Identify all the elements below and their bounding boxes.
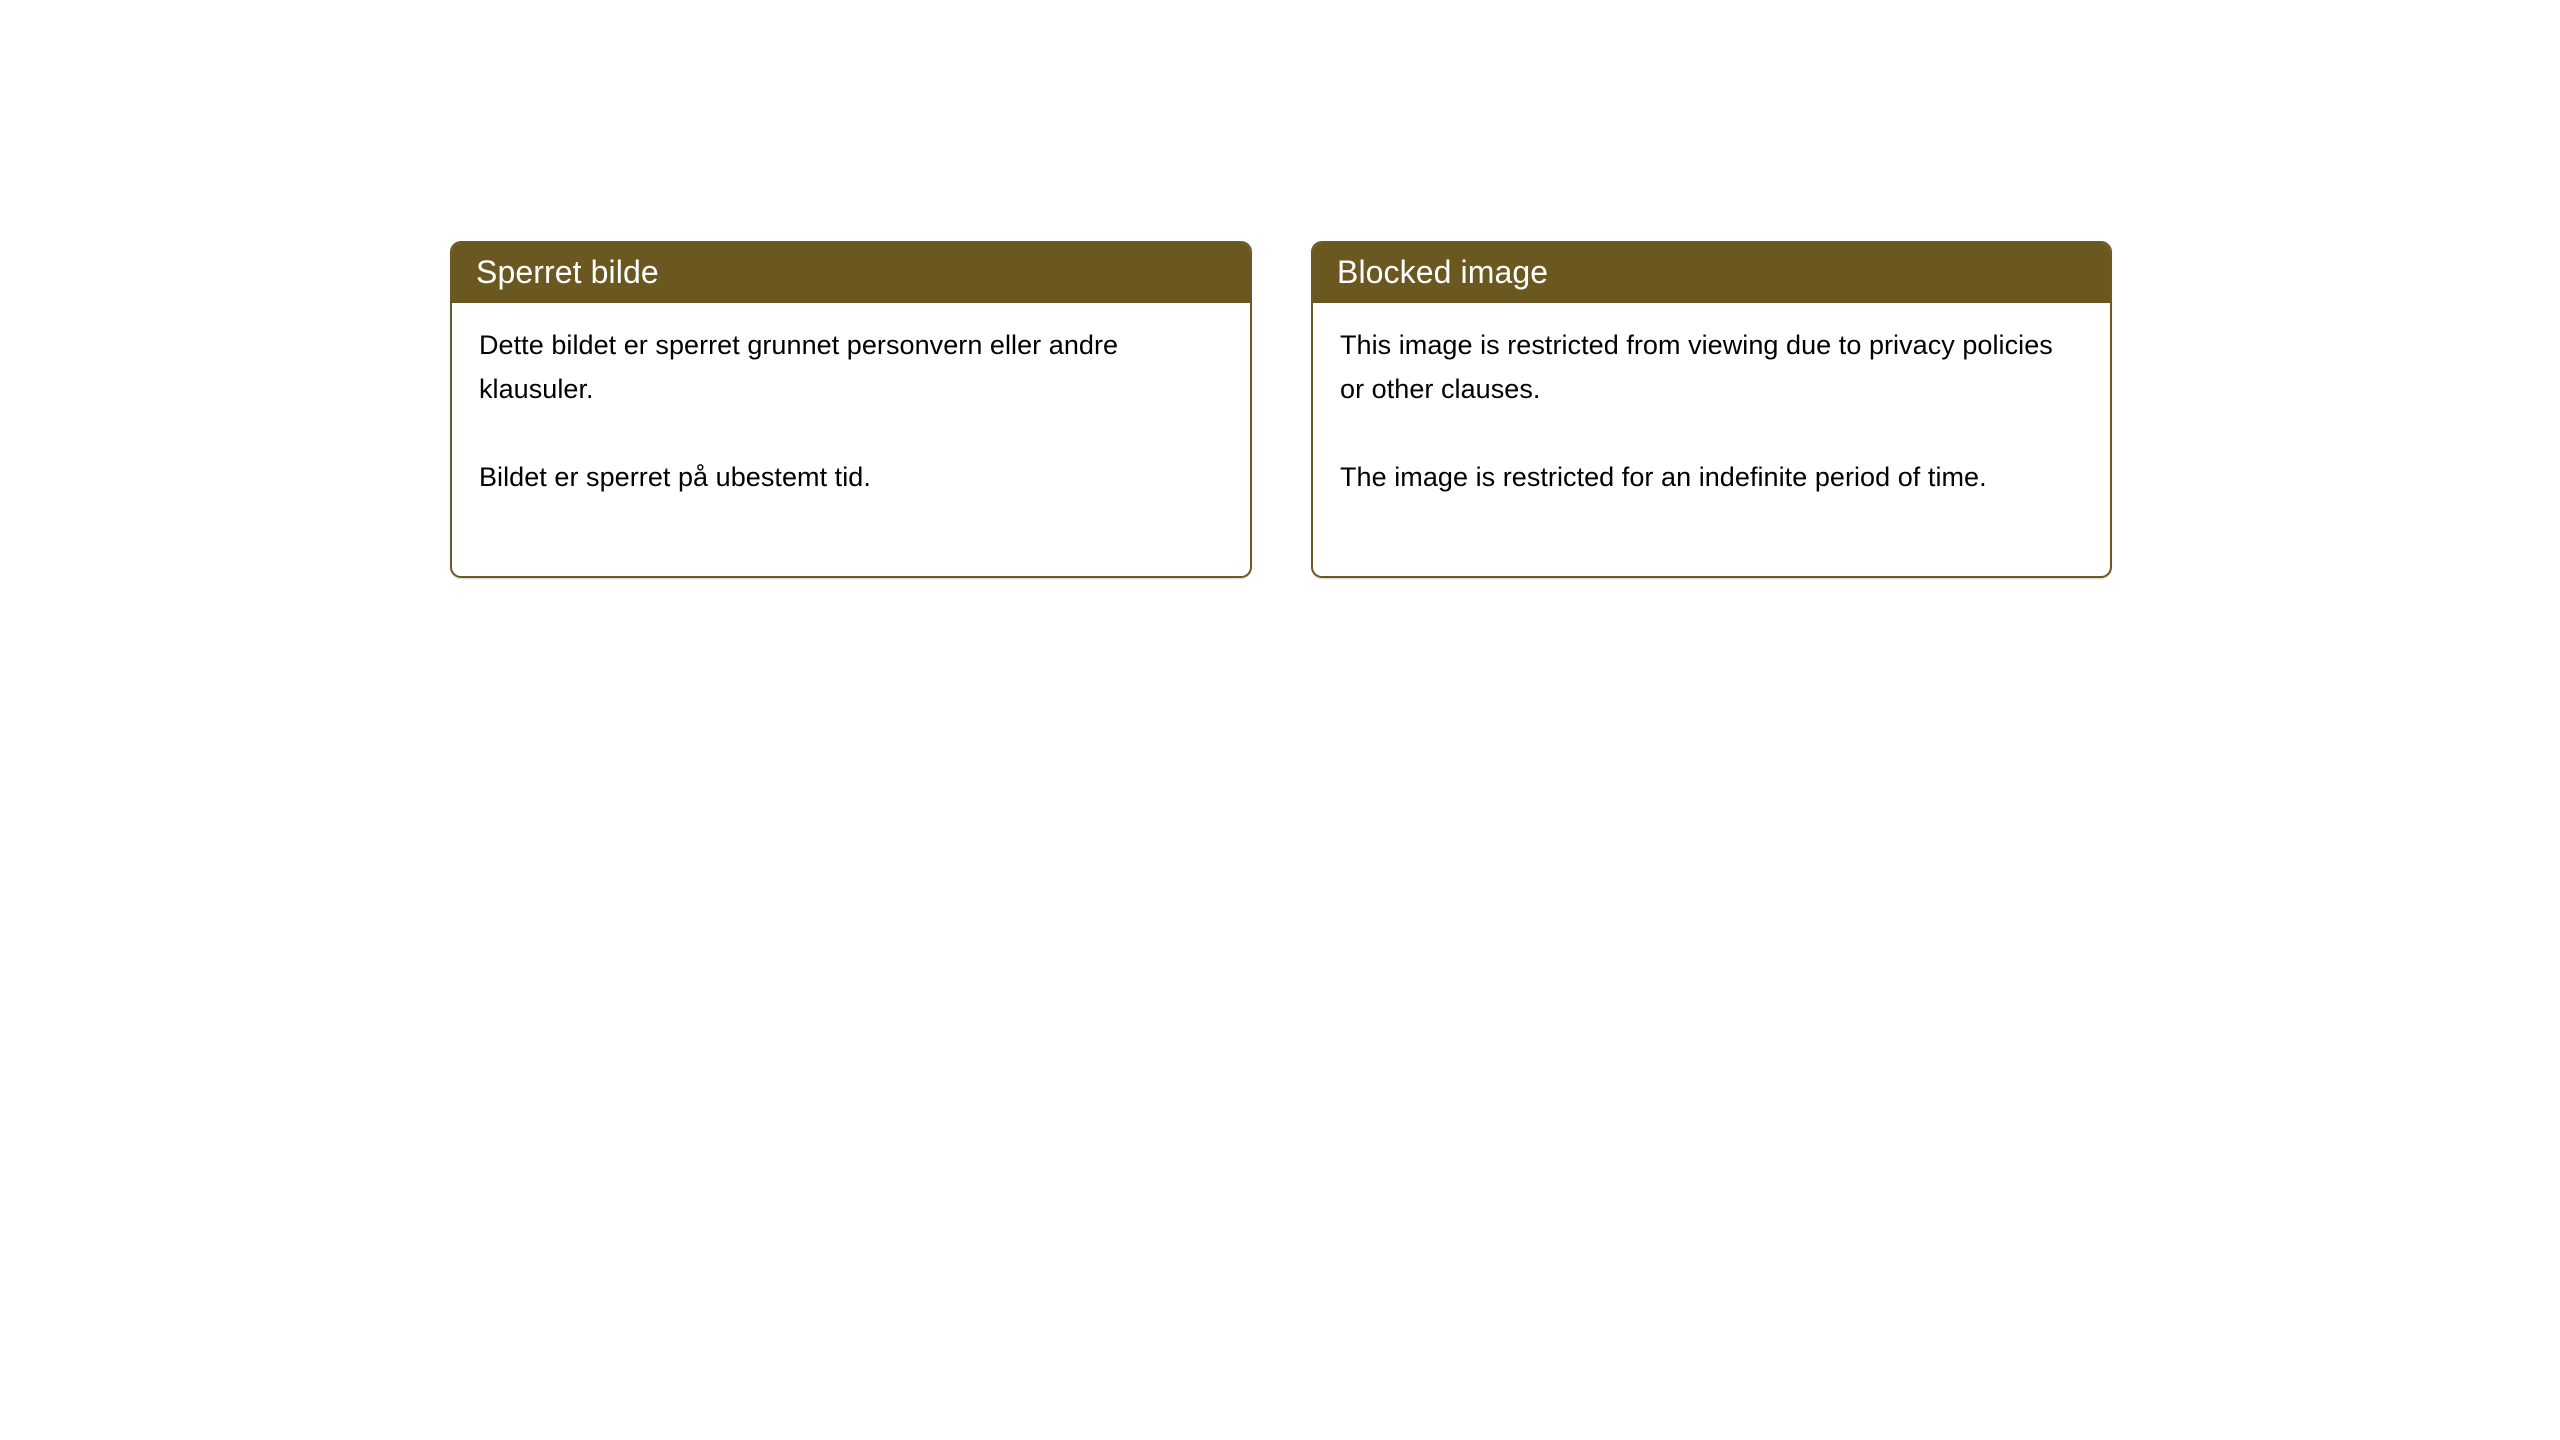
blocked-image-notice-card-english: Blocked image This image is restricted f… (1311, 241, 2112, 578)
notice-card-header-english: Blocked image (1311, 241, 2112, 303)
notice-paragraph-reason-norwegian: Dette bildet er sperret grunnet personve… (479, 323, 1224, 411)
notice-paragraph-duration-norwegian: Bildet er sperret på ubestemt tid. (479, 455, 1224, 499)
notice-paragraph-duration-english: The image is restricted for an indefinit… (1340, 455, 2084, 499)
notice-card-title-norwegian: Sperret bilde (476, 254, 659, 290)
notice-paragraph-reason-english: This image is restricted from viewing du… (1340, 323, 2084, 411)
blocked-image-notice-card-norwegian: Sperret bilde Dette bildet er sperret gr… (450, 241, 1252, 578)
blocked-image-notice-area: Sperret bilde Dette bildet er sperret gr… (450, 241, 2112, 578)
notice-card-header-norwegian: Sperret bilde (450, 241, 1252, 303)
notice-card-title-english: Blocked image (1337, 254, 1548, 290)
notice-card-body-english: This image is restricted from viewing du… (1313, 303, 2110, 576)
notice-card-body-norwegian: Dette bildet er sperret grunnet personve… (452, 303, 1250, 576)
